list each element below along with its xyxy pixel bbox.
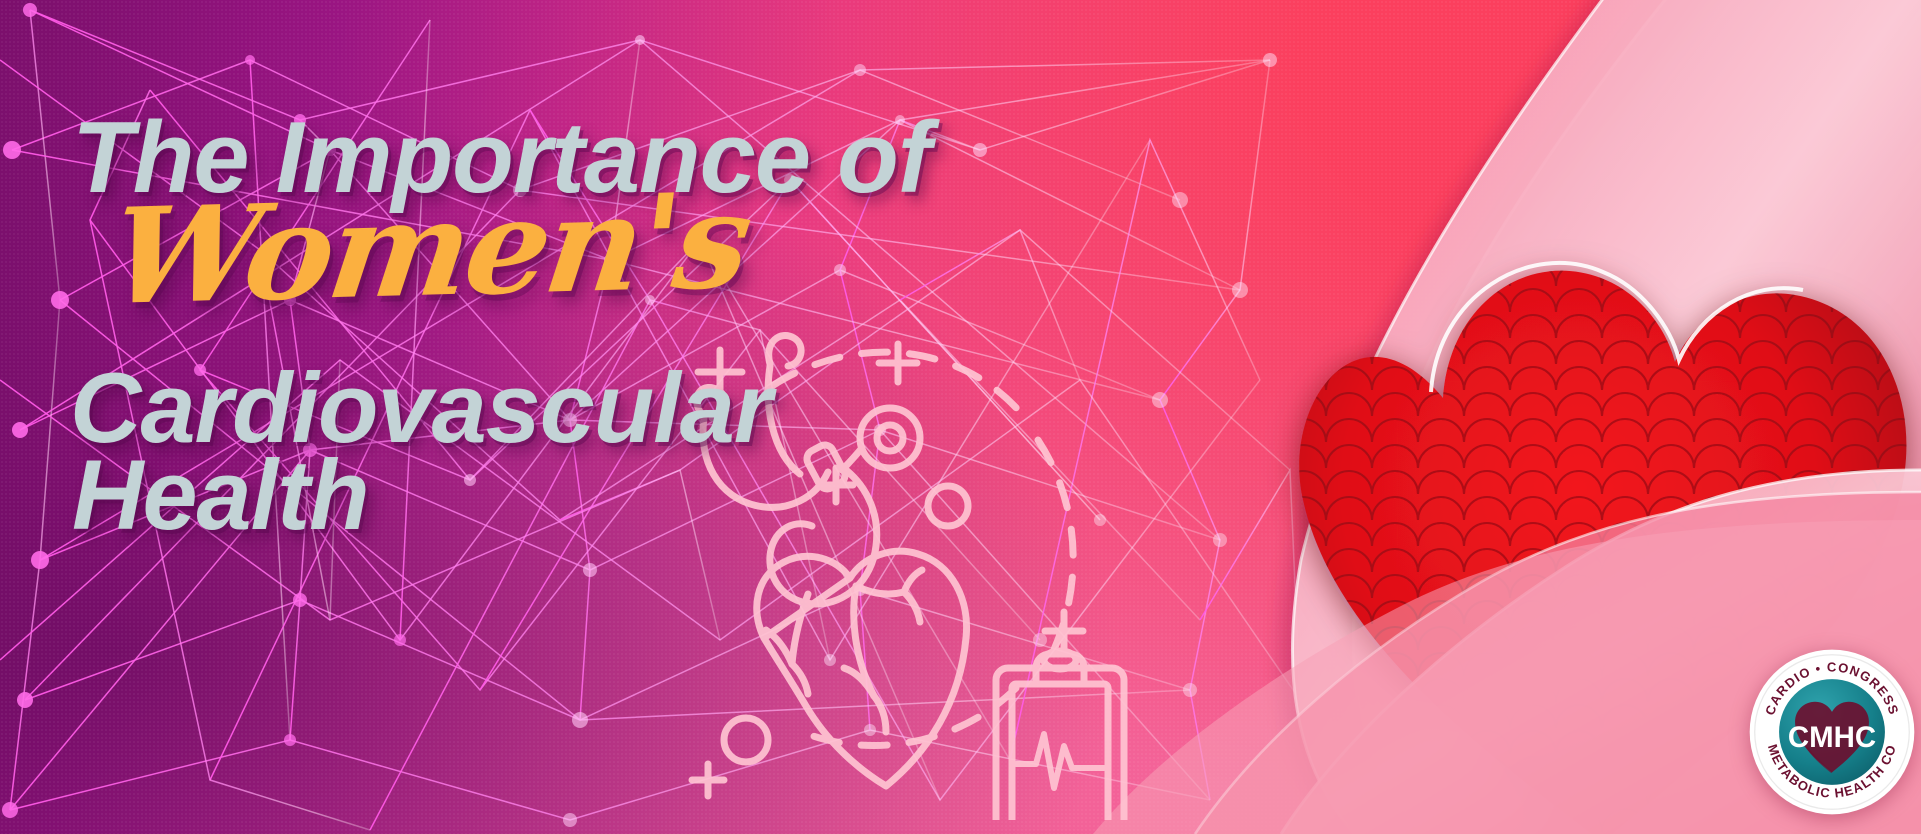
headline-script-womens: Women's <box>104 174 1087 318</box>
circle-icon <box>724 718 768 762</box>
plus-icon <box>692 764 724 796</box>
cmhc-logo[interactable]: CMHC CARDIO • CONGRESS METABOLIC HEALTH … <box>1748 648 1916 816</box>
anatomical-heart-icon <box>757 551 967 786</box>
banner-root: The Importance of Women's Cardiovascular… <box>0 0 1921 834</box>
logo-acronym: CMHC <box>1788 721 1876 754</box>
clipboard-ecg-icon <box>996 651 1124 820</box>
title-block: The Importance of Women's Cardiovascular… <box>66 112 1076 540</box>
